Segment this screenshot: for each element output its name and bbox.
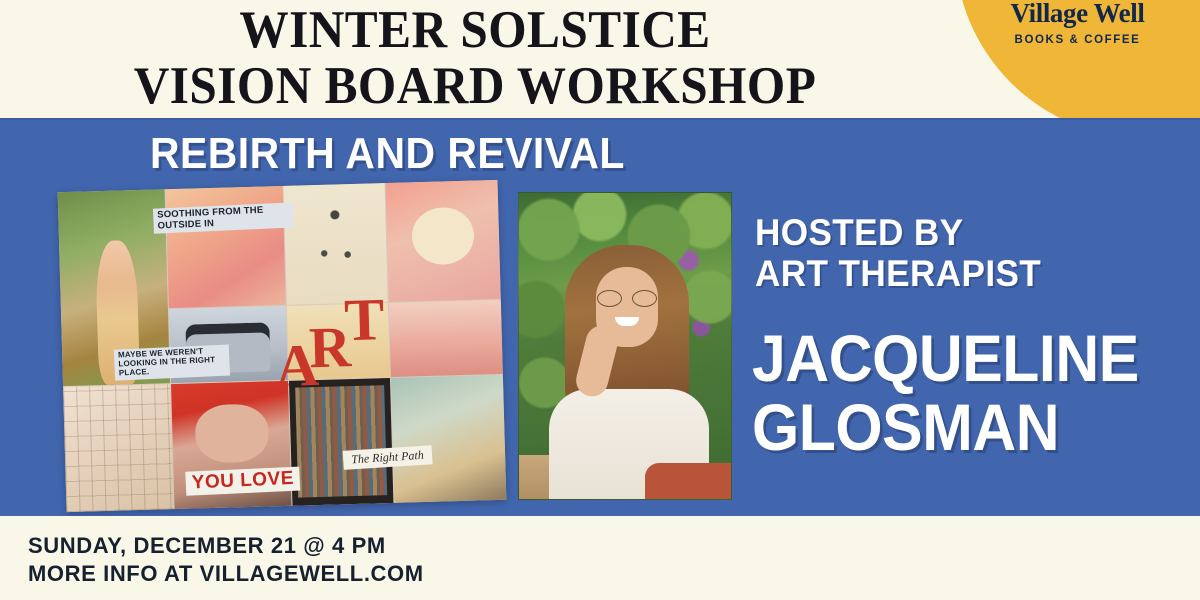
- footer-date-time: SUNDAY, DECEMBER 21 @ 4 PM: [28, 532, 424, 560]
- page-title: WINTER SOLSTICE VISION BOARD WORKSHOP: [0, 2, 950, 113]
- collage-tile-pink-sand: [389, 300, 503, 377]
- logo-text-group: Village Well BOOKS & COFFEE: [955, 0, 1200, 46]
- collage-tile-hat-portrait: [386, 180, 501, 302]
- speaker-name: JACQUELINE GLOSMAN: [752, 326, 1139, 459]
- hosted-line-1: HOSTED BY: [755, 213, 1041, 254]
- hosted-by-text: HOSTED BY ART THERAPIST: [755, 213, 1041, 294]
- speaker-portrait-photo: [518, 192, 732, 500]
- speaker-first-name: JACQUELINE: [752, 326, 1139, 391]
- collage-tile-map: [63, 384, 173, 512]
- title-line-1: WINTER SOLSTICE: [33, 5, 917, 57]
- speaker-last-name: GLOSMAN: [752, 395, 1139, 460]
- logo-tagline: BOOKS & COFFEE: [955, 34, 1200, 46]
- footer-details: SUNDAY, DECEMBER 21 @ 4 PM MORE INFO AT …: [28, 532, 424, 588]
- portrait-rust-skirt: [645, 463, 732, 500]
- collage-art-letters: A R T: [273, 287, 382, 398]
- collage-tile-ice-cream: [391, 375, 506, 503]
- title-line-2: VISION BOARD WORKSHOP: [33, 61, 917, 113]
- footer-website: MORE INFO AT VILLAGEWELL.COM: [28, 560, 424, 588]
- subtitle: REBIRTH AND REVIVAL: [150, 129, 625, 179]
- art-letter-t: T: [343, 289, 385, 350]
- collage-label-maybe: MAYBE WE WEREN'T LOOKING IN THE RIGHT PL…: [114, 344, 230, 380]
- vision-board-collage: A R T SOOTHING FROM THE OUTSIDE IN MAYBE…: [58, 180, 507, 512]
- glasses-icon: [597, 290, 657, 305]
- hosted-line-2: ART THERAPIST: [755, 254, 1041, 295]
- logo-name: Village Well: [955, 0, 1200, 27]
- event-flyer: WINTER SOLSTICE VISION BOARD WORKSHOP Vi…: [0, 0, 1200, 600]
- footer-band: SUNDAY, DECEMBER 21 @ 4 PM MORE INFO AT …: [0, 516, 1200, 600]
